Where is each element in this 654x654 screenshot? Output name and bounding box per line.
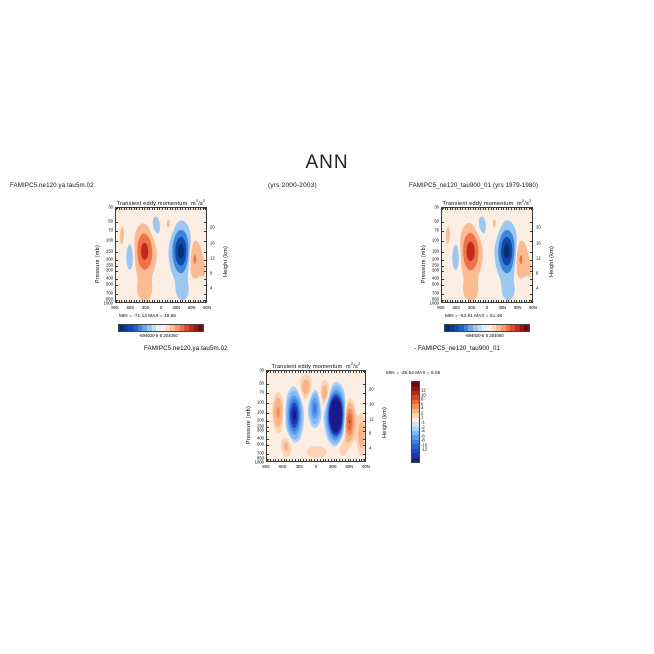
axis-tickmark bbox=[204, 241, 206, 242]
y2-axis-tick: 16 bbox=[536, 240, 541, 245]
y-axis-tick: 500 bbox=[257, 441, 264, 446]
case-header-diff-left: FAMIPC5.ne120.ya.tau5m.02 bbox=[144, 345, 228, 352]
axis-tickmark bbox=[204, 208, 206, 209]
axis-tickmark bbox=[457, 208, 458, 210]
axis-tickmark bbox=[531, 300, 532, 302]
axis-tickmark bbox=[488, 300, 489, 302]
axis-tickmark bbox=[496, 208, 497, 210]
colorbar-tick-label: 60 bbox=[173, 333, 178, 338]
axis-tickmark bbox=[142, 300, 143, 302]
axis-tickmark bbox=[205, 300, 206, 302]
y2-axis-tick: 4 bbox=[536, 286, 538, 291]
axis-tickmark bbox=[356, 371, 357, 373]
axis-tickmark bbox=[521, 208, 522, 210]
axis-tickmark bbox=[298, 459, 299, 461]
axis-tickmark bbox=[363, 403, 365, 404]
axis-tickmark bbox=[480, 300, 481, 302]
y-axis-tick: 100 bbox=[106, 237, 113, 242]
axis-tickmark bbox=[530, 208, 532, 209]
axis-tickmark bbox=[336, 459, 337, 461]
y2-axis-ticks-test: 20161284 bbox=[210, 207, 224, 303]
x-axis-tick: 90S bbox=[262, 464, 269, 469]
y2-axis-tick: 16 bbox=[369, 402, 374, 407]
axis-tickmark bbox=[508, 208, 509, 210]
axis-tickmark bbox=[317, 459, 318, 461]
axis-tickmark bbox=[129, 208, 130, 210]
axis-tickmark bbox=[278, 371, 279, 373]
axis-tickmark bbox=[204, 222, 206, 223]
axis-tickmark bbox=[359, 371, 360, 373]
axis-tickmark bbox=[361, 459, 362, 461]
axis-tickmark bbox=[519, 208, 520, 210]
axis-tickmark bbox=[204, 231, 206, 232]
contour-field-test bbox=[116, 208, 207, 303]
axis-tickmark bbox=[361, 371, 362, 373]
y-axis-tick: 70 bbox=[108, 228, 113, 233]
axis-tickmark bbox=[314, 371, 315, 373]
axis-tickmark bbox=[524, 300, 525, 302]
axis-tickmark bbox=[167, 208, 168, 210]
axis-tickmark bbox=[182, 208, 183, 210]
axis-tickmark bbox=[447, 300, 448, 302]
axis-tickmark bbox=[317, 371, 318, 373]
axis-tickmark bbox=[353, 371, 354, 373]
y-axis-tick: 400 bbox=[432, 275, 439, 280]
axis-tickmark bbox=[447, 208, 448, 210]
colorbar-swatch bbox=[198, 325, 203, 331]
axis-tickmark bbox=[501, 208, 502, 210]
axis-tickmark bbox=[267, 371, 269, 372]
axis-tickmark bbox=[311, 371, 312, 373]
colorbar-swatch bbox=[412, 458, 419, 462]
x-axis-tick: 30N bbox=[172, 305, 180, 310]
case-header-diff-right: - FAMIPC5_ne120_tau900_01 bbox=[414, 345, 500, 352]
axis-tickmark bbox=[325, 459, 326, 461]
axis-tickmark bbox=[292, 371, 293, 373]
axis-tickmark bbox=[359, 459, 360, 461]
axis-tickmark bbox=[452, 208, 453, 210]
axis-tickmark bbox=[342, 459, 343, 461]
x-axis-tick: 30N bbox=[329, 464, 337, 469]
axis-tickmark bbox=[491, 208, 492, 210]
case-header-control: FAMIPC5_ne120_tau900_01 (yrs 1979-1980) bbox=[409, 182, 538, 189]
y-axis-tick: 70 bbox=[259, 390, 264, 395]
axis-tickmark bbox=[300, 459, 301, 461]
axis-tickmark bbox=[442, 260, 444, 261]
y2-axis-tick: 12 bbox=[210, 255, 215, 260]
axis-tickmark bbox=[267, 431, 269, 432]
axis-tickmark bbox=[204, 266, 206, 267]
axis-tickmark bbox=[529, 300, 530, 302]
y2-axis-tick: 12 bbox=[536, 255, 541, 260]
axis-tickmark bbox=[121, 300, 122, 302]
axis-tickmark bbox=[496, 300, 497, 302]
axis-tickmark bbox=[530, 271, 532, 272]
colorbar-tick-label: 60 bbox=[499, 333, 504, 338]
y2-axis-tick: 8 bbox=[369, 431, 371, 436]
axis-tickmark bbox=[303, 459, 304, 461]
axis-tickmark bbox=[270, 371, 271, 373]
axis-tickmark bbox=[511, 300, 512, 302]
axis-tickmark bbox=[162, 300, 163, 302]
axis-tickmark bbox=[116, 271, 118, 272]
y-axis-tick: 50 bbox=[259, 381, 264, 386]
axis-tickmark bbox=[342, 371, 343, 373]
axis-tickmark bbox=[331, 371, 332, 373]
axis-tickmark bbox=[320, 371, 321, 373]
contour-plot-diff bbox=[266, 370, 366, 462]
axis-tickmark bbox=[488, 208, 489, 210]
axis-tickmark bbox=[526, 208, 527, 210]
axis-tickmark bbox=[475, 208, 476, 210]
axis-tickmark bbox=[116, 260, 118, 261]
axis-tickmark bbox=[530, 252, 532, 253]
axis-tickmark bbox=[267, 454, 269, 455]
axis-tickmark bbox=[311, 459, 312, 461]
x-axis-tick: 30S bbox=[142, 305, 149, 310]
axis-tickmark bbox=[124, 300, 125, 302]
contour-field-control bbox=[442, 208, 533, 303]
axis-tickmark bbox=[483, 208, 484, 210]
axis-tickmark bbox=[281, 371, 282, 373]
panel-control: Transient eddy momentum m2/s2 Pressure (… bbox=[441, 207, 533, 303]
axis-tickmark bbox=[152, 300, 153, 302]
axis-tickmark bbox=[442, 294, 444, 295]
axis-tickmark bbox=[485, 208, 486, 210]
axis-tickmark bbox=[309, 459, 310, 461]
axis-tickmark bbox=[530, 279, 532, 280]
axis-tickmark bbox=[188, 300, 189, 302]
axis-tickmark bbox=[478, 208, 479, 210]
axis-tickmark bbox=[350, 459, 351, 461]
axis-tickmark bbox=[204, 252, 206, 253]
y-axis-tick: 200 bbox=[257, 417, 264, 422]
axis-tickmark bbox=[204, 271, 206, 272]
axis-tickmark bbox=[465, 208, 466, 210]
axis-tickmark bbox=[445, 300, 446, 302]
y-axis-tick: 150 bbox=[106, 249, 113, 254]
y-axis-tick: 700 bbox=[106, 291, 113, 296]
axis-tickmark bbox=[275, 371, 276, 373]
axis-tickmark bbox=[295, 459, 296, 461]
axis-tickmark bbox=[116, 252, 118, 253]
x-axis-tick: 60S bbox=[127, 305, 134, 310]
x-axis-tick: 60S bbox=[279, 464, 286, 469]
axis-tickmark bbox=[306, 371, 307, 373]
axis-tickmark bbox=[530, 241, 532, 242]
axis-tickmark bbox=[126, 208, 127, 210]
axis-tickmark bbox=[139, 300, 140, 302]
axis-tickmark bbox=[167, 300, 168, 302]
axis-tickmark bbox=[149, 208, 150, 210]
axis-tickmark bbox=[363, 384, 365, 385]
axis-tickmark bbox=[442, 266, 444, 267]
axis-tickmark bbox=[116, 222, 118, 223]
minmax-test: MIN = -71.13 MAX = 48.66 bbox=[119, 313, 176, 318]
axis-tickmark bbox=[442, 300, 444, 301]
axis-tickmark bbox=[175, 208, 176, 210]
axis-tickmark bbox=[506, 208, 507, 210]
axis-tickmark bbox=[177, 208, 178, 210]
axis-tickmark bbox=[289, 371, 290, 373]
colorbar-tick-label: -5 bbox=[480, 333, 484, 338]
x-axis-tick: 90S bbox=[111, 305, 118, 310]
y-axis-tick: 30 bbox=[259, 368, 264, 373]
x-axis-tick: 60N bbox=[514, 305, 522, 310]
axis-tickmark bbox=[116, 279, 118, 280]
y-axis-tick: 50 bbox=[434, 218, 439, 223]
axis-tickmark bbox=[460, 208, 461, 210]
axis-tickmark bbox=[267, 439, 269, 440]
axis-tickmark bbox=[452, 300, 453, 302]
axis-tickmark bbox=[204, 279, 206, 280]
axis-tickmark bbox=[493, 208, 494, 210]
axis-tickmark bbox=[275, 459, 276, 461]
axis-tickmark bbox=[286, 459, 287, 461]
axis-tickmark bbox=[521, 300, 522, 302]
plot-title-control: Transient eddy momentum m2/s2 bbox=[441, 198, 533, 207]
axis-tickmark bbox=[116, 231, 118, 232]
axis-tickmark bbox=[519, 300, 520, 302]
axis-tickmark bbox=[309, 371, 310, 373]
y-axis-tick: 30 bbox=[434, 205, 439, 210]
axis-tickmark bbox=[530, 300, 532, 301]
axis-tickmark bbox=[460, 300, 461, 302]
axis-tickmark bbox=[470, 300, 471, 302]
axis-tickmark bbox=[530, 266, 532, 267]
axis-tickmark bbox=[175, 300, 176, 302]
axis-tickmark bbox=[442, 241, 444, 242]
axis-tickmark bbox=[514, 300, 515, 302]
axis-tickmark bbox=[442, 208, 444, 209]
axis-tickmark bbox=[516, 300, 517, 302]
axis-tickmark bbox=[165, 300, 166, 302]
axis-tickmark bbox=[273, 371, 274, 373]
axis-tickmark bbox=[331, 459, 332, 461]
axis-tickmark bbox=[119, 300, 120, 302]
axis-tickmark bbox=[455, 300, 456, 302]
axis-tickmark bbox=[204, 260, 206, 261]
axis-tickmark bbox=[363, 454, 365, 455]
y-axis-label-control: Pressure (mb) bbox=[421, 245, 427, 283]
y-axis-ticks-control: 3050701001502002503004005007008501000 bbox=[428, 207, 439, 303]
y2-axis-tick: 20 bbox=[210, 225, 215, 230]
minmax-control: MIN = -63.91 MAX = 51.48 bbox=[445, 313, 502, 318]
axis-tickmark bbox=[116, 294, 118, 295]
axis-tickmark bbox=[267, 427, 269, 428]
axis-tickmark bbox=[270, 459, 271, 461]
axis-tickmark bbox=[152, 208, 153, 210]
axis-tickmark bbox=[267, 459, 269, 460]
axis-tickmark bbox=[363, 413, 365, 414]
axis-tickmark bbox=[116, 285, 118, 286]
axis-tickmark bbox=[281, 459, 282, 461]
axis-tickmark bbox=[190, 300, 191, 302]
axis-tickmark bbox=[363, 445, 365, 446]
axis-tickmark bbox=[320, 459, 321, 461]
axis-tickmark bbox=[195, 208, 196, 210]
x-axis-tick: 60S bbox=[453, 305, 460, 310]
x-axis-tick: 30S bbox=[468, 305, 475, 310]
y2-axis-tick: 4 bbox=[369, 445, 371, 450]
axis-tickmark bbox=[144, 300, 145, 302]
axis-tickmark bbox=[468, 300, 469, 302]
panel-test: Transient eddy momentum m2/s2 Pressure (… bbox=[115, 207, 207, 303]
axis-tickmark bbox=[450, 300, 451, 302]
y2-axis-tick: 8 bbox=[536, 270, 538, 275]
axis-tickmark bbox=[462, 300, 463, 302]
axis-tickmark bbox=[491, 300, 492, 302]
axis-tickmark bbox=[116, 208, 118, 209]
axis-tickmark bbox=[119, 208, 120, 210]
y2-axis-tick: 20 bbox=[369, 387, 374, 392]
axis-tickmark bbox=[445, 208, 446, 210]
axis-tickmark bbox=[442, 300, 443, 302]
axis-tickmark bbox=[121, 208, 122, 210]
axis-tickmark bbox=[442, 252, 444, 253]
axis-tickmark bbox=[116, 300, 117, 302]
axis-tickmark bbox=[200, 300, 201, 302]
axis-tickmark bbox=[473, 300, 474, 302]
axis-tickmark bbox=[180, 208, 181, 210]
axis-tickmark bbox=[204, 300, 206, 301]
axis-tickmark bbox=[185, 208, 186, 210]
axis-tickmark bbox=[323, 371, 324, 373]
y-axis-tick: 300 bbox=[257, 428, 264, 433]
axis-tickmark bbox=[442, 285, 444, 286]
x-axis-tick: 90S bbox=[437, 305, 444, 310]
axis-tickmark bbox=[356, 459, 357, 461]
axis-tickmark bbox=[363, 371, 365, 372]
y-axis-tick: 300 bbox=[432, 268, 439, 273]
axis-tickmark bbox=[508, 300, 509, 302]
y-axis-tick: 300 bbox=[106, 268, 113, 273]
axis-tickmark bbox=[289, 459, 290, 461]
axis-tickmark bbox=[450, 208, 451, 210]
colorbar-tick-label: 5 bbox=[486, 333, 488, 338]
axis-tickmark bbox=[131, 208, 132, 210]
y-axis-tick: 400 bbox=[106, 275, 113, 280]
colorbar-test bbox=[118, 324, 204, 332]
x-axis-tick: 90N bbox=[203, 305, 211, 310]
axis-tickmark bbox=[364, 459, 365, 461]
minmax-diff: MIN = -28.54 MAX = 8.55 bbox=[386, 370, 440, 375]
axis-tickmark bbox=[526, 300, 527, 302]
axis-tickmark bbox=[154, 208, 155, 210]
colorbar-labels-control: -60-40-20-55204060 bbox=[444, 333, 530, 340]
axis-tickmark bbox=[159, 300, 160, 302]
axis-tickmark bbox=[483, 300, 484, 302]
x-axis-tick: 90N bbox=[529, 305, 537, 310]
axis-tickmark bbox=[363, 431, 365, 432]
axis-tickmark bbox=[116, 241, 118, 242]
y-axis-label-diff: Pressure (mb) bbox=[246, 406, 252, 444]
axis-tickmark bbox=[345, 371, 346, 373]
axis-tickmark bbox=[170, 208, 171, 210]
axis-tickmark bbox=[511, 208, 512, 210]
colorbar-tick-label: -12 bbox=[421, 447, 427, 452]
axis-tickmark bbox=[139, 208, 140, 210]
axis-tickmark bbox=[157, 208, 158, 210]
axis-tickmark bbox=[530, 294, 532, 295]
y2-axis-tick: 16 bbox=[210, 240, 215, 245]
axis-tickmark bbox=[177, 300, 178, 302]
y-axis-tick: 200 bbox=[432, 256, 439, 261]
y-axis-tick: 70 bbox=[434, 228, 439, 233]
axis-tickmark bbox=[493, 300, 494, 302]
years-subtitle: (yrs 2000-2003) bbox=[268, 182, 317, 189]
axis-tickmark bbox=[134, 300, 135, 302]
axis-tickmark bbox=[530, 231, 532, 232]
axis-tickmark bbox=[501, 300, 502, 302]
axis-tickmark bbox=[267, 459, 268, 461]
axis-tickmark bbox=[267, 445, 269, 446]
case-header-test: FAMIPC5.ne120.ya.tau5m.02 bbox=[10, 182, 94, 189]
y2-axis-tick: 20 bbox=[536, 225, 541, 230]
axis-tickmark bbox=[298, 371, 299, 373]
axis-tickmark bbox=[126, 300, 127, 302]
y-axis-tick: 700 bbox=[432, 291, 439, 296]
axis-tickmark bbox=[530, 285, 532, 286]
axis-tickmark bbox=[485, 300, 486, 302]
y2-axis-ticks-control: 20161284 bbox=[536, 207, 550, 303]
axis-tickmark bbox=[195, 300, 196, 302]
axis-tickmark bbox=[336, 371, 337, 373]
axis-tickmark bbox=[286, 371, 287, 373]
axis-tickmark bbox=[273, 459, 274, 461]
axis-tickmark bbox=[306, 459, 307, 461]
axis-tickmark bbox=[131, 300, 132, 302]
axis-tickmark bbox=[353, 459, 354, 461]
colorbar-tick-label: 5 bbox=[160, 333, 162, 338]
axis-tickmark bbox=[334, 371, 335, 373]
axis-tickmark bbox=[470, 208, 471, 210]
axis-tickmark bbox=[190, 208, 191, 210]
axis-tickmark bbox=[455, 208, 456, 210]
axis-tickmark bbox=[503, 300, 504, 302]
axis-tickmark bbox=[348, 371, 349, 373]
plot-title-diff: Transient eddy momentum m2/s2 bbox=[266, 361, 366, 370]
y-axis-tick: 150 bbox=[432, 249, 439, 254]
axis-tickmark bbox=[442, 231, 444, 232]
axis-tickmark bbox=[442, 279, 444, 280]
axis-tickmark bbox=[129, 300, 130, 302]
x-axis-tick: 30N bbox=[498, 305, 506, 310]
axis-tickmark bbox=[198, 300, 199, 302]
x-axis-tick: 30S bbox=[296, 464, 303, 469]
axis-tickmark bbox=[267, 413, 269, 414]
axis-tickmark bbox=[185, 300, 186, 302]
axis-tickmark bbox=[498, 208, 499, 210]
y-axis-tick: 500 bbox=[432, 282, 439, 287]
y2-axis-ticks-diff: 20161284 bbox=[369, 370, 383, 462]
axis-tickmark bbox=[147, 300, 148, 302]
y2-axis-tick: 8 bbox=[210, 270, 212, 275]
axis-tickmark bbox=[165, 208, 166, 210]
y-axis-tick: 50 bbox=[108, 218, 113, 223]
colorbar-labels-diff: 121086421-1-2-4-6-8-10-12 bbox=[421, 381, 435, 463]
axis-tickmark bbox=[323, 459, 324, 461]
axis-tickmark bbox=[203, 300, 204, 302]
colorbar-diff bbox=[411, 381, 420, 463]
axis-tickmark bbox=[124, 208, 125, 210]
contour-field-diff bbox=[267, 371, 366, 462]
axis-tickmark bbox=[363, 439, 365, 440]
axis-tickmark bbox=[292, 459, 293, 461]
x-axis-tick: 60N bbox=[188, 305, 196, 310]
axis-tickmark bbox=[475, 300, 476, 302]
colorbar-labels-test: -60-40-20-55204060 bbox=[118, 333, 204, 340]
